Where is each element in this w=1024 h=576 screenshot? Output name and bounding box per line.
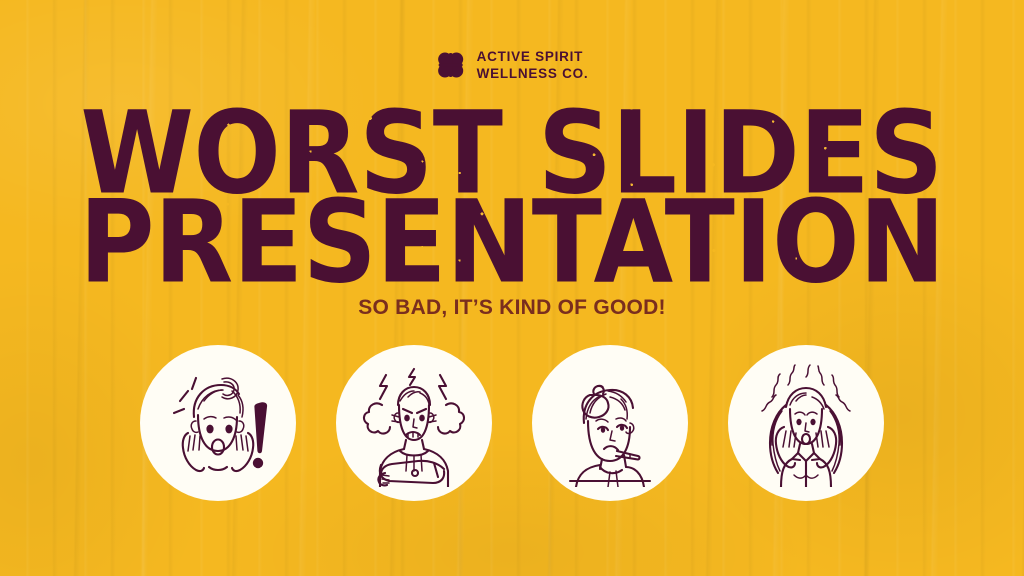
illustration-circle-angry-person: [336, 345, 492, 501]
title-line2-wrap: PRESENTATION: [142, 179, 882, 268]
page-title: WORST SLIDES PRESENTATION: [0, 104, 1024, 268]
shocked-face-with-exclamation-icon: [154, 359, 282, 487]
stressed-face-pulling-hair-icon: [742, 359, 870, 487]
slide-canvas: ACTIVE SPIRIT WELLNESS CO. WORST SLIDES …: [0, 0, 1024, 576]
illustration-row: [0, 345, 1024, 501]
brand-logo-lockup: ACTIVE SPIRIT WELLNESS CO.: [436, 48, 589, 82]
brand-name: ACTIVE SPIRIT WELLNESS CO.: [477, 48, 589, 82]
brand-name-line2: WELLNESS CO.: [477, 65, 589, 82]
illustration-circle-shocked-woman: [140, 345, 296, 501]
angry-face-steam-from-ears-icon: [350, 359, 478, 487]
title-line2: PRESENTATION: [79, 193, 945, 291]
title-line1-wrap: WORST SLIDES: [143, 104, 880, 179]
illustration-circle-sick-person: [532, 345, 688, 501]
illustration-circle-stressed-woman: [728, 345, 884, 501]
sick-face-thermometer-icepack-icon: [546, 359, 674, 487]
brand-name-line1: ACTIVE SPIRIT: [477, 48, 589, 65]
subtitle: SO BAD, IT’S KIND OF GOOD!: [0, 296, 1024, 320]
four-petal-clover-icon: [436, 50, 466, 80]
